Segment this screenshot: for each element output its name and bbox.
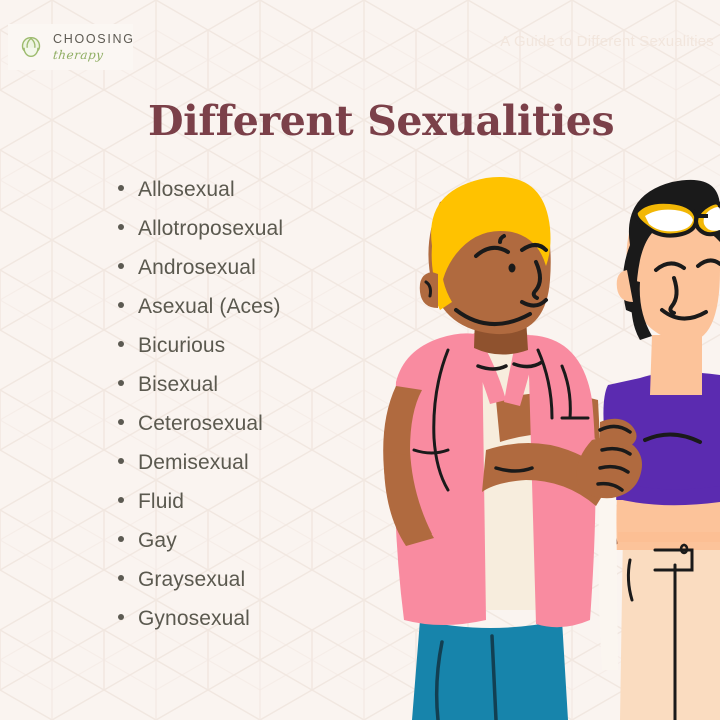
list-item[interactable]: Ceterosexual xyxy=(118,412,378,451)
bullet-icon xyxy=(118,341,124,347)
list-item[interactable]: Androsexual xyxy=(118,256,378,295)
list-item-label: Graysexual xyxy=(138,568,245,592)
list-item[interactable]: Bicurious xyxy=(118,334,378,373)
page-title: Different Sexualities xyxy=(148,97,614,145)
bullet-icon xyxy=(118,419,124,425)
watermark-text: A Guide to Different Sexualities xyxy=(500,33,714,50)
bullet-icon xyxy=(118,185,124,191)
list-item[interactable]: Gay xyxy=(118,529,378,568)
list-item[interactable]: Allosexual xyxy=(118,178,378,217)
list-item-label: Demisexual xyxy=(138,451,249,475)
sunglasses-icon xyxy=(636,202,720,236)
sexualities-list: Allosexual Allotroposexual Androsexual A… xyxy=(118,178,378,646)
list-item-label: Fluid xyxy=(138,490,184,514)
bullet-icon xyxy=(118,536,124,542)
list-item[interactable]: Allotroposexual xyxy=(118,217,378,256)
bullet-icon xyxy=(118,575,124,581)
leaf-icon xyxy=(14,30,48,64)
list-item[interactable]: Fluid xyxy=(118,490,378,529)
bullet-icon xyxy=(118,263,124,269)
list-item-label: Androsexual xyxy=(138,256,256,280)
list-item-label: Asexual (Aces) xyxy=(138,295,281,319)
bullet-icon xyxy=(118,458,124,464)
logo-script-word: therapy xyxy=(52,49,135,61)
bullet-icon xyxy=(118,497,124,503)
bullet-icon xyxy=(118,380,124,386)
list-item-label: Allosexual xyxy=(138,178,235,202)
bullet-icon xyxy=(118,614,124,620)
logo-wordmark: CHOOSING xyxy=(53,33,135,46)
list-item[interactable]: Bisexual xyxy=(118,373,378,412)
list-item[interactable]: Graysexual xyxy=(118,568,378,607)
list-item[interactable]: Demisexual xyxy=(118,451,378,490)
list-item-label: Gay xyxy=(138,529,177,553)
list-item[interactable]: Asexual (Aces) xyxy=(118,295,378,334)
brand-logo[interactable]: CHOOSING therapy xyxy=(8,24,133,70)
bullet-icon xyxy=(118,302,124,308)
list-item[interactable]: Gynosexual xyxy=(118,607,378,646)
list-item-label: Bisexual xyxy=(138,373,218,397)
list-item-label: Bicurious xyxy=(138,334,225,358)
list-item-label: Ceterosexual xyxy=(138,412,263,436)
list-item-label: Gynosexual xyxy=(138,607,250,631)
bullet-icon xyxy=(118,224,124,230)
infographic-canvas: A Guide to Different Sexualities CHOOSIN… xyxy=(0,0,720,720)
list-item-label: Allotroposexual xyxy=(138,217,283,241)
